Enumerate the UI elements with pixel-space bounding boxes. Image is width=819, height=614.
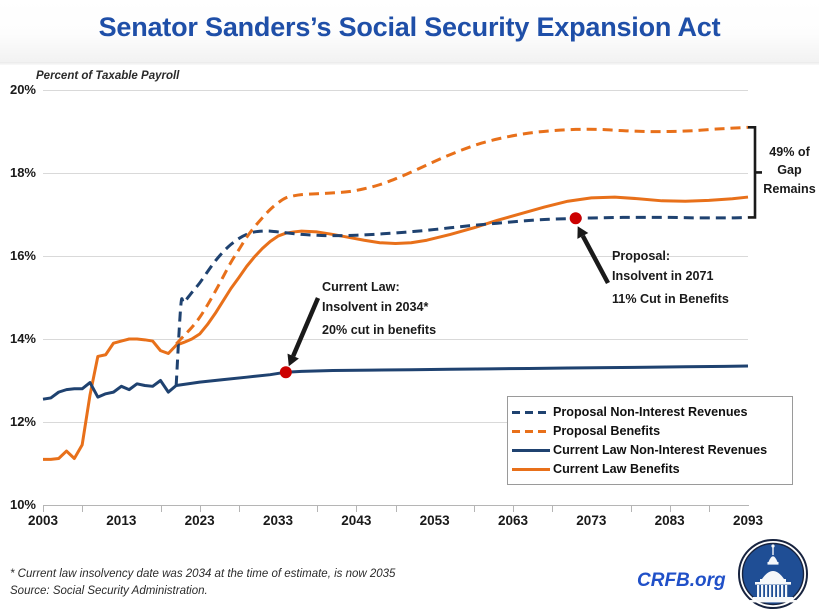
x-axis-tick — [396, 505, 397, 512]
x-axis-tick — [670, 505, 671, 512]
footnote: * Current law insolvency date was 2034 a… — [10, 566, 395, 601]
footnote-line1: * Current law insolvency date was 2034 a… — [10, 566, 395, 583]
x-axis-tick-label: 2073 — [556, 513, 626, 528]
y-axis-tick-label: 12% — [0, 414, 36, 429]
y-axis-tick-label: 20% — [0, 82, 36, 97]
legend-swatch-icon — [512, 406, 550, 418]
legend-item-label: Current Law Non-Interest Revenues — [553, 443, 767, 457]
proposal-callout-line1: Proposal: — [612, 247, 729, 267]
x-axis-tick-label: 2023 — [165, 513, 235, 528]
x-axis-tick — [317, 505, 318, 512]
chart-legend[interactable]: Proposal Non-Interest RevenuesProposal B… — [507, 396, 793, 485]
legend-item-label: Proposal Non-Interest Revenues — [553, 405, 748, 419]
y-axis-tick-label: 16% — [0, 248, 36, 263]
y-axis-unit-label: Percent of Taxable Payroll — [36, 70, 179, 82]
x-axis-tick-label: 2033 — [243, 513, 313, 528]
current-law-callout-line2: Insolvent in 2034* — [322, 298, 436, 318]
x-axis-tick — [82, 505, 83, 512]
legend-swatch-icon — [512, 425, 550, 437]
x-axis-tick-label: 2093 — [713, 513, 783, 528]
legend-item-label: Current Law Benefits — [553, 462, 680, 476]
legend-item[interactable]: Proposal Non-Interest Revenues — [512, 402, 788, 421]
current-law-callout-line1: Current Law: — [322, 278, 436, 298]
x-axis-tick — [709, 505, 710, 512]
crfb-brand-text[interactable]: CRFB.org — [637, 570, 726, 592]
chart-page: Senator Sanders’s Social Security Expans… — [0, 0, 819, 614]
x-axis-tick — [631, 505, 632, 512]
proposal-callout: Proposal: Insolvent in 2071 11% Cut in B… — [612, 247, 729, 310]
proposal-callout-line3: 11% Cut in Benefits — [612, 290, 729, 310]
y-axis-tick-label: 10% — [0, 497, 36, 512]
legend-swatch-icon — [512, 444, 550, 456]
legend-item[interactable]: Current Law Benefits — [512, 459, 788, 478]
x-axis-tick-label: 2053 — [400, 513, 470, 528]
x-axis-tick-label: 2043 — [321, 513, 391, 528]
x-axis-tick — [200, 505, 201, 512]
x-axis-tick — [43, 505, 44, 512]
legend-item[interactable]: Proposal Benefits — [512, 421, 788, 440]
x-axis-tick — [239, 505, 240, 512]
crfb-capitol-logo-icon[interactable] — [737, 538, 809, 610]
current-law-callout-line3: 20% cut in benefits — [322, 321, 436, 341]
proposal-callout-line2: Insolvent in 2071 — [612, 267, 729, 287]
y-axis-tick-label: 14% — [0, 331, 36, 346]
gridline — [43, 173, 748, 174]
x-axis-tick — [513, 505, 514, 512]
legend-item[interactable]: Current Law Non-Interest Revenues — [512, 440, 788, 459]
x-axis-tick — [356, 505, 357, 512]
x-axis-tick-label: 2083 — [635, 513, 705, 528]
x-axis-tick-label: 2003 — [8, 513, 78, 528]
legend-item-label: Proposal Benefits — [553, 424, 660, 438]
gridline — [43, 90, 748, 91]
footnote-line2: Source: Social Security Administration. — [10, 583, 395, 600]
gap-label-line3: Remains — [760, 180, 819, 198]
y-axis-tick-label: 18% — [0, 165, 36, 180]
current-law-callout: Current Law: Insolvent in 2034* 20% cut … — [322, 278, 436, 341]
x-axis-tick — [474, 505, 475, 512]
x-axis-tick-label: 2013 — [86, 513, 156, 528]
gap-label-line1: 49% of — [760, 143, 819, 161]
x-axis-tick-label: 2063 — [478, 513, 548, 528]
legend-swatch-icon — [512, 463, 550, 475]
x-axis-tick — [161, 505, 162, 512]
header-divider — [0, 62, 819, 65]
gap-label-line2: Gap — [760, 161, 819, 179]
gap-remains-label: 49% of Gap Remains — [760, 143, 819, 198]
x-axis-tick — [552, 505, 553, 512]
page-title: Senator Sanders’s Social Security Expans… — [0, 12, 819, 43]
